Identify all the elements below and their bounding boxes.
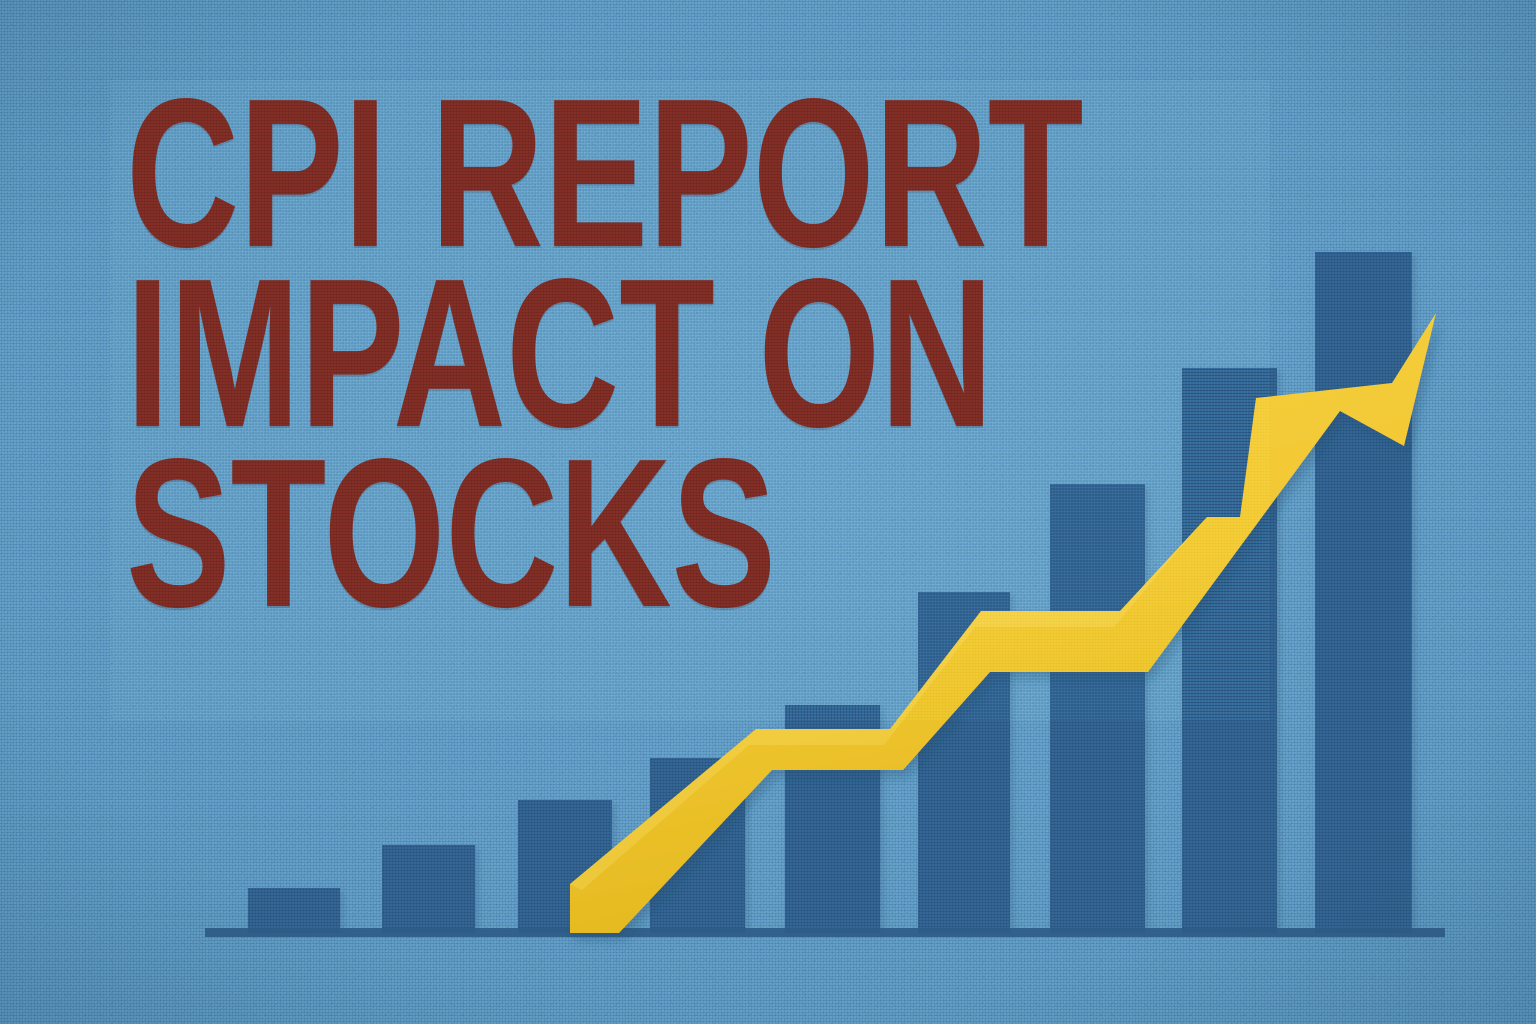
poster-canvas: CPI REPORT IMPACT ON STOCKS — [0, 0, 1536, 1024]
headline-line-3: STOCKS — [126, 446, 1246, 620]
page-title: CPI REPORT IMPACT ON STOCKS — [126, 86, 1246, 619]
